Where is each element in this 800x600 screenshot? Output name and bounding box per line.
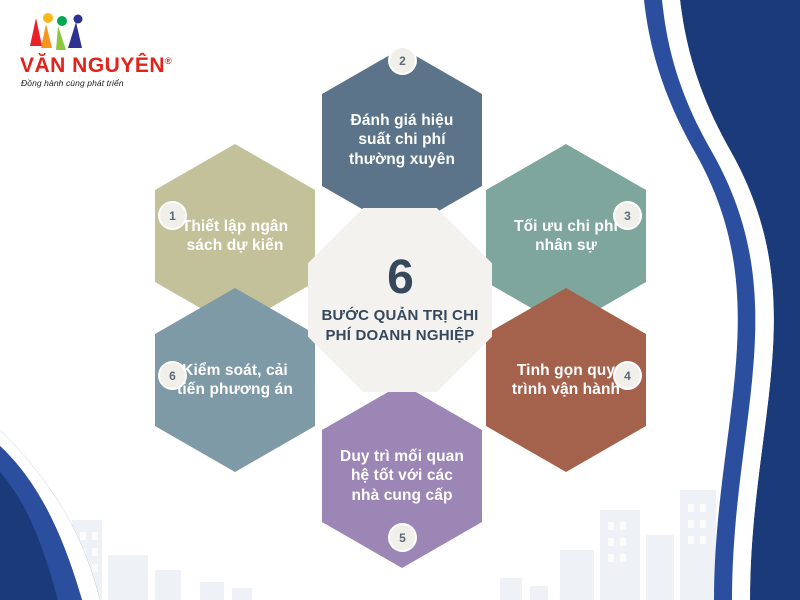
badge-step-3: 3 — [615, 203, 640, 228]
hex-step-4-label: Tinh gọn quy trình vận hành — [502, 361, 630, 400]
center-number: 6 — [387, 254, 413, 302]
hexagon-cluster: Thiết lập ngân sách dự kiến Đánh giá hiệ… — [0, 0, 800, 600]
hex-step-5-label: Duy trì mối quan hệ tốt với các nhà cung… — [338, 447, 466, 505]
hex-step-6-label: Kiểm soát, cải tiến phương án — [171, 361, 299, 400]
hex-step-3-label: Tối ưu chi phí nhân sự — [502, 217, 630, 256]
center-title: BƯỚC QUẢN TRỊ CHI PHÍ DOANH NGHIỆP — [308, 306, 492, 347]
badge-step-4: 4 — [615, 363, 640, 388]
center-octagon: 6 BƯỚC QUẢN TRỊ CHI PHÍ DOANH NGHIỆP — [308, 208, 492, 392]
hex-step-2-label: Đánh giá hiệu suất chi phí thường xuyên — [338, 111, 466, 169]
hex-step-2[interactable]: Đánh giá hiệu suất chi phí thường xuyên — [322, 48, 482, 232]
hex-step-1-label: Thiết lập ngân sách dự kiến — [171, 217, 299, 256]
infographic-canvas: VĂN NGUYÊN® Đồng hành cùng phát triển Th… — [0, 0, 800, 600]
badge-step-1: 1 — [160, 203, 185, 228]
badge-step-6: 6 — [160, 363, 185, 388]
badge-step-2: 2 — [390, 48, 415, 73]
badge-step-5: 5 — [390, 525, 415, 550]
